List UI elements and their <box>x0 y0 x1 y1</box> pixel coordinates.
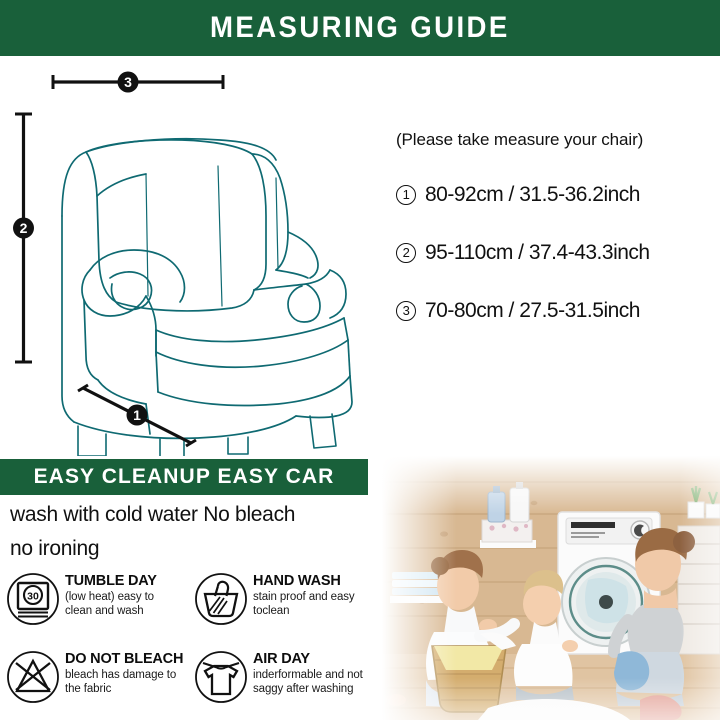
care-item-air-dry: AIR DAY inderformable and not saggy afte… <box>194 646 370 720</box>
care-icon-grid: 30 TUMBLE DAY (low heat) easy to clean a… <box>6 568 380 720</box>
svg-text:30: 30 <box>27 591 39 603</box>
care-sentences: wash with cold water No bleach no ironin… <box>10 498 370 566</box>
laundry-photo-illustration <box>382 456 720 720</box>
marker-2-label: 2 <box>20 220 28 236</box>
measurement-note: (Please take measure your chair) <box>396 130 716 150</box>
care-text-hand-wash: HAND WASH stain proof and easy toclean <box>248 568 370 618</box>
care-title-tumble-dry: TUMBLE DAY <box>65 573 182 589</box>
chair-diagram-svg: 3 2 1 <box>0 56 390 456</box>
measuring-guide-page: MEASURING GUIDE <box>0 0 720 720</box>
care-desc-do-not-bleach: bleach has damage to the fabric <box>65 669 183 696</box>
care-item-do-not-bleach: DO NOT BLEACH bleach has damage to the f… <box>6 646 182 720</box>
tumble-dry-30-icon: 30 <box>6 572 60 626</box>
page-title: MEASURING GUIDE <box>210 11 510 45</box>
marker-1-label: 1 <box>133 407 141 423</box>
measurement-value-2: 95-110cm / 37.4-43.3inch <box>425 241 650 265</box>
care-item-tumble-dry: 30 TUMBLE DAY (low heat) easy to clean a… <box>6 568 182 646</box>
marker-3-label: 3 <box>124 74 132 90</box>
care-desc-hand-wash: stain proof and easy toclean <box>253 591 370 618</box>
care-title-do-not-bleach: DO NOT BLEACH <box>65 651 183 667</box>
care-text-air-dry: AIR DAY inderformable and not saggy afte… <box>248 646 370 696</box>
care-sentence-1: wash with cold water No bleach <box>10 498 370 532</box>
measurement-marker-3: 3 <box>396 301 416 321</box>
measurement-value-3: 70-80cm / 27.5-31.5inch <box>425 299 640 323</box>
care-text-do-not-bleach: DO NOT BLEACH bleach has damage to the f… <box>60 646 183 696</box>
measurement-marker-1: 1 <box>396 185 416 205</box>
measurement-list: (Please take measure your chair) 1 80-92… <box>396 130 716 323</box>
care-sentence-2: no ironing <box>10 532 370 566</box>
measurement-row-3: 3 70-80cm / 27.5-31.5inch <box>396 299 716 323</box>
measurement-marker-2: 2 <box>396 243 416 263</box>
care-item-hand-wash: HAND WASH stain proof and easy toclean <box>194 568 370 646</box>
chair-outline-group <box>62 139 352 456</box>
care-title-hand-wash: HAND WASH <box>253 573 370 589</box>
dimension-marker-2-group: 2 <box>13 114 34 362</box>
laundry-room-family-photo <box>382 456 720 720</box>
air-dry-shirt-icon <box>194 650 248 704</box>
dimension-marker-3-group: 3 <box>53 72 223 93</box>
measurement-row-2: 2 95-110cm / 37.4-43.3inch <box>396 241 716 265</box>
chair-diagram: 3 2 1 <box>0 56 390 456</box>
measurement-row-1: 1 80-92cm / 31.5-36.2inch <box>396 183 716 207</box>
header-banner: MEASURING GUIDE <box>0 0 720 56</box>
care-desc-air-dry: inderformable and not saggy after washin… <box>253 669 370 696</box>
measurement-value-1: 80-92cm / 31.5-36.2inch <box>425 183 640 207</box>
care-desc-tumble-dry: (low heat) easy to clean and wash <box>65 591 182 618</box>
care-text-tumble-dry: TUMBLE DAY (low heat) easy to clean and … <box>60 568 182 618</box>
do-not-bleach-icon <box>6 650 60 704</box>
hand-wash-icon <box>194 572 248 626</box>
care-title-air-dry: AIR DAY <box>253 651 370 667</box>
cleanup-banner-title: EASY CLEANUP EASY CAR <box>34 465 335 489</box>
cleanup-banner: EASY CLEANUP EASY CAR <box>0 459 368 495</box>
